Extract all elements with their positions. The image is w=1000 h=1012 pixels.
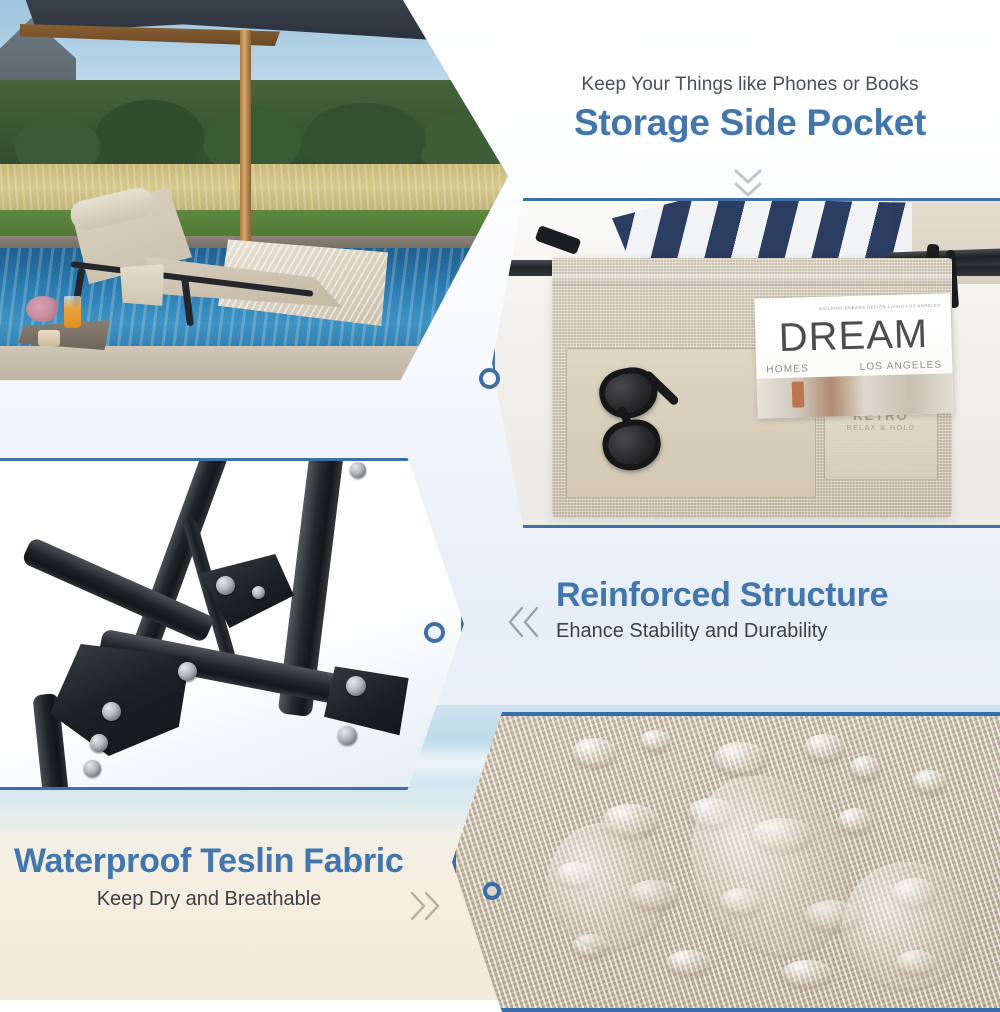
water-droplet bbox=[714, 742, 766, 776]
double-chevron-left-icon bbox=[500, 602, 546, 642]
magazine-subtitle-left: HOMES bbox=[766, 363, 809, 375]
rivet-7 bbox=[346, 676, 366, 696]
magazine-kicker: BUILDING DREAMS DESIGN LIVING LOS ANGELE… bbox=[819, 303, 940, 311]
rivet-2 bbox=[252, 586, 265, 599]
connector-ring-storage bbox=[479, 368, 500, 389]
reinforced-title: Reinforced Structure bbox=[556, 576, 956, 614]
magazine-title: DREAM bbox=[763, 314, 944, 359]
waterproof-title: Waterproof Teslin Fabric bbox=[14, 842, 414, 880]
chair-side-pocket bbox=[120, 264, 164, 306]
reinforced-subtitle: Ehance Stability and Durability bbox=[556, 620, 956, 643]
mesh-storage-bag: RETRO RELAX & HOLD BUILDING DREAMS DESIG… bbox=[552, 258, 952, 518]
water-droplet bbox=[838, 808, 872, 834]
rivet-4 bbox=[102, 702, 121, 721]
rivet-5 bbox=[90, 734, 108, 752]
rivet-8 bbox=[338, 726, 357, 745]
storage-eyebrow: Keep Your Things like Phones or Books bbox=[500, 74, 1000, 96]
dessert-plate bbox=[38, 330, 60, 346]
rivet-3 bbox=[178, 662, 197, 681]
rivet-9 bbox=[350, 462, 366, 478]
waterproof-feature-text: Waterproof Teslin Fabric Keep Dry and Br… bbox=[14, 842, 414, 911]
juice-glass bbox=[64, 296, 81, 328]
magazine-subtitle: HOMES LOS ANGELES bbox=[766, 360, 942, 376]
storage-title: Storage Side Pocket bbox=[500, 102, 1000, 143]
rivet-1 bbox=[216, 576, 235, 595]
chair-frame bbox=[66, 254, 318, 316]
bag-brand-line-2: RELAX & HOLD bbox=[847, 425, 916, 432]
magazine-cover-photo bbox=[757, 373, 954, 418]
reinforced-feature-text: Reinforced Structure Ehance Stability an… bbox=[556, 576, 956, 643]
water-droplet bbox=[850, 756, 880, 780]
storage-pocket-photo: RETRO RELAX & HOLD BUILDING DREAMS DESIG… bbox=[492, 198, 1000, 528]
chaise-lounge bbox=[50, 188, 362, 318]
rivet-6 bbox=[84, 760, 101, 777]
water-droplet bbox=[666, 950, 710, 976]
flower-bouquet bbox=[26, 296, 60, 322]
sunglasses-lens-right bbox=[599, 416, 665, 475]
infographic-canvas: Keep Your Things like Phones or Books St… bbox=[0, 0, 1000, 1000]
water-droplet bbox=[912, 770, 946, 794]
connector-ring-reinforced bbox=[424, 622, 445, 643]
water-droplet bbox=[804, 734, 844, 762]
water-droplet bbox=[640, 730, 670, 752]
connector-ring-waterproof bbox=[483, 882, 501, 900]
magazine-subtitle-right: LOS ANGELES bbox=[859, 360, 942, 373]
chair-frame-bar bbox=[71, 261, 314, 297]
waterproof-fabric-photo bbox=[452, 712, 1000, 1012]
magazine: BUILDING DREAMS DESIGN LIVING LOS ANGELE… bbox=[754, 293, 953, 418]
reinforced-frame-joint-photo bbox=[0, 458, 464, 790]
water-droplet bbox=[572, 738, 616, 768]
double-chevron-right-icon bbox=[400, 886, 446, 926]
tree-line bbox=[0, 80, 508, 176]
waterproof-subtitle: Keep Dry and Breathable bbox=[14, 888, 414, 911]
storage-feature-text: Keep Your Things like Phones or Books St… bbox=[500, 74, 1000, 143]
water-droplet bbox=[782, 960, 832, 988]
bag-top-hem bbox=[552, 274, 952, 286]
sunglasses bbox=[592, 360, 699, 488]
